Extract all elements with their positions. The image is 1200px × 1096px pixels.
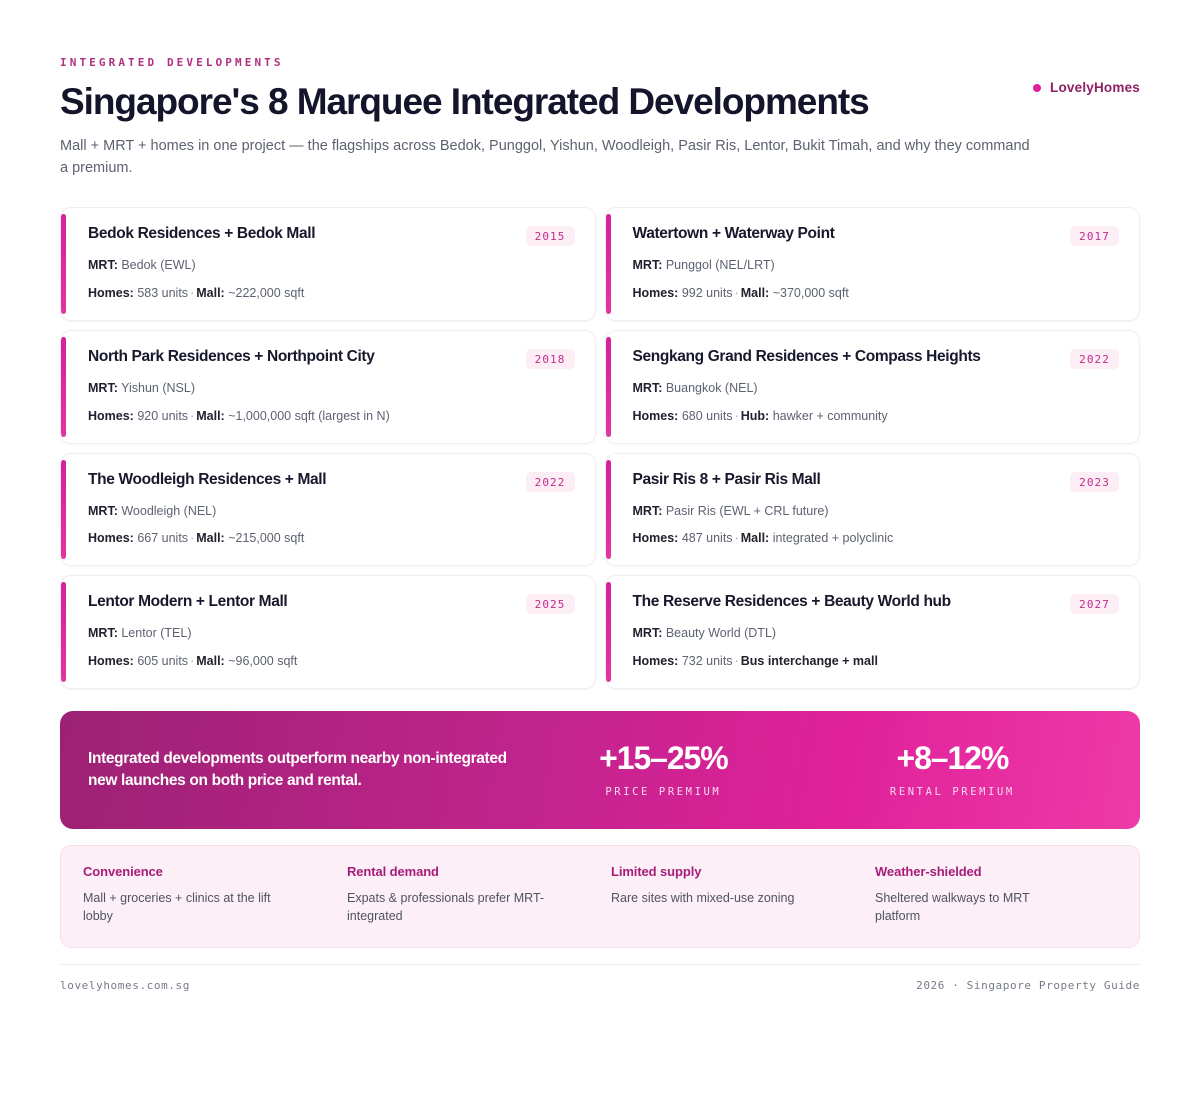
separator-dot: · (188, 531, 196, 545)
year-badge: 2027 (1070, 594, 1119, 614)
mrt-label: MRT: (88, 258, 118, 272)
benefit-title: Weather-shielded (875, 864, 1117, 879)
card-header: The Woodleigh Residences + Mall 2022 (88, 471, 575, 492)
separator-dot: · (733, 531, 741, 545)
infographic-page: LovelyHomes INTEGRATED DEVELOPMENTS Sing… (0, 56, 1200, 1096)
homes-label: Homes: (633, 654, 679, 668)
homes-value: 487 units (682, 531, 733, 545)
homes-value: 680 units (682, 409, 733, 423)
benefit-title: Rental demand (347, 864, 589, 879)
mrt-label: MRT: (88, 381, 118, 395)
mrt-label: MRT: (88, 504, 118, 518)
card-accent-bar (606, 582, 611, 682)
development-card[interactable]: The Reserve Residences + Beauty World hu… (605, 575, 1141, 689)
card-mrt-line: MRT: Woodleigh (NEL) (88, 503, 575, 520)
year-badge: 2015 (526, 226, 575, 246)
page-footer: lovelyhomes.com.sg 2026 · Singapore Prop… (60, 964, 1140, 992)
mall-label: Mall: (741, 286, 769, 300)
dot-icon (1033, 84, 1041, 92)
card-accent-bar (61, 214, 66, 314)
mall-value: ~222,000 sqft (228, 286, 304, 300)
benefit-description: Sheltered walkways to MRT platform (875, 889, 1075, 925)
card-header: North Park Residences + Northpoint City … (88, 348, 575, 369)
separator-dot: · (188, 286, 196, 300)
mrt-label: MRT: (633, 504, 663, 518)
mall-value: hawker + community (773, 409, 888, 423)
card-header: Pasir Ris 8 + Pasir Ris Mall 2023 (633, 471, 1120, 492)
mall-label: Mall: (196, 409, 224, 423)
separator-dot: · (188, 654, 196, 668)
mrt-label: MRT: (633, 626, 663, 640)
homes-label: Homes: (88, 531, 134, 545)
page-title: Singapore's 8 Marquee Integrated Develop… (60, 82, 1140, 122)
card-title: Lentor Modern + Lentor Mall (88, 593, 287, 612)
homes-label: Homes: (88, 409, 134, 423)
mrt-value: Bedok (EWL) (121, 258, 195, 272)
card-title: Sengkang Grand Residences + Compass Heig… (633, 348, 981, 367)
separator-dot: · (733, 409, 741, 423)
mrt-value: Yishun (NSL) (121, 381, 195, 395)
card-mrt-line: MRT: Bedok (EWL) (88, 257, 575, 274)
development-card[interactable]: Watertown + Waterway Point 2017 MRT: Pun… (605, 207, 1141, 321)
card-accent-bar (606, 460, 611, 560)
year-badge: 2023 (1070, 472, 1119, 492)
banner-statement: Integrated developments outperform nearb… (88, 748, 518, 792)
homes-label: Homes: (633, 286, 679, 300)
card-accent-bar (61, 582, 66, 682)
separator-dot: · (188, 409, 196, 423)
year-badge: 2025 (526, 594, 575, 614)
development-card[interactable]: Bedok Residences + Bedok Mall 2015 MRT: … (60, 207, 596, 321)
mall-value: integrated + polyclinic (773, 531, 894, 545)
footer-attribution: 2026 · Singapore Property Guide (916, 979, 1140, 992)
development-card[interactable]: Sengkang Grand Residences + Compass Heig… (605, 330, 1141, 444)
benefit-title: Convenience (83, 864, 325, 879)
benefit-description: Rare sites with mixed-use zoning (611, 889, 811, 907)
benefit-description: Mall + groceries + clinics at the lift l… (83, 889, 283, 925)
year-badge: 2017 (1070, 226, 1119, 246)
stat-price-premium: +15–25% PRICE PREMIUM (599, 742, 727, 798)
separator-dot: · (733, 654, 741, 668)
brand-name: LovelyHomes (1050, 80, 1140, 95)
homes-value: 605 units (137, 654, 188, 668)
card-header: Bedok Residences + Bedok Mall 2015 (88, 225, 575, 246)
mrt-label: MRT: (633, 258, 663, 272)
mall-value: ~1,000,000 sqft (largest in N) (228, 409, 390, 423)
homes-value: 583 units (137, 286, 188, 300)
stat-value: +8–12% (890, 742, 1015, 774)
year-badge: 2022 (1070, 349, 1119, 369)
mall-label: Mall: (741, 531, 769, 545)
mall-label: Mall: (196, 531, 224, 545)
mrt-value: Pasir Ris (EWL + CRL future) (666, 504, 829, 518)
banner-stats: +15–25% PRICE PREMIUM +8–12% RENTAL PREM… (518, 742, 1096, 798)
year-badge: 2022 (526, 472, 575, 492)
card-header: Lentor Modern + Lentor Mall 2025 (88, 593, 575, 614)
card-homes-line: Homes: 667 units·Mall: ~215,000 sqft (88, 530, 575, 547)
footer-website: lovelyhomes.com.sg (60, 979, 190, 992)
mrt-value: Buangkok (NEL) (666, 381, 758, 395)
premium-banner: Integrated developments outperform nearb… (60, 711, 1140, 829)
card-mrt-line: MRT: Lentor (TEL) (88, 625, 575, 642)
card-header: Watertown + Waterway Point 2017 (633, 225, 1120, 246)
benefit-item-weather-shielded: Weather-shielded Sheltered walkways to M… (875, 864, 1117, 925)
mall-label: Bus interchange + mall (741, 654, 878, 668)
mall-value: ~215,000 sqft (228, 531, 304, 545)
eyebrow-label: INTEGRATED DEVELOPMENTS (60, 56, 1140, 69)
page-subtitle: Mall + MRT + homes in one project — the … (60, 135, 1035, 179)
card-accent-bar (606, 214, 611, 314)
card-homes-line: Homes: 605 units·Mall: ~96,000 sqft (88, 653, 575, 670)
mall-value: ~96,000 sqft (228, 654, 297, 668)
card-title: The Woodleigh Residences + Mall (88, 471, 326, 490)
development-card[interactable]: North Park Residences + Northpoint City … (60, 330, 596, 444)
stat-label: RENTAL PREMIUM (890, 786, 1015, 798)
separator-dot: · (733, 286, 741, 300)
card-title: Watertown + Waterway Point (633, 225, 835, 244)
card-homes-line: Homes: 680 units·Hub: hawker + community (633, 408, 1120, 425)
benefit-item-rental-demand: Rental demand Expats & professionals pre… (347, 864, 589, 925)
developments-grid: Bedok Residences + Bedok Mall 2015 MRT: … (60, 207, 1140, 689)
brand-logo: LovelyHomes (1033, 80, 1140, 95)
card-title: Bedok Residences + Bedok Mall (88, 225, 315, 244)
card-mrt-line: MRT: Beauty World (DTL) (633, 625, 1120, 642)
card-mrt-line: MRT: Buangkok (NEL) (633, 380, 1120, 397)
mall-value: ~370,000 sqft (773, 286, 849, 300)
mall-label: Mall: (196, 654, 224, 668)
homes-label: Homes: (633, 409, 679, 423)
card-homes-line: Homes: 920 units·Mall: ~1,000,000 sqft (… (88, 408, 575, 425)
benefit-item-convenience: Convenience Mall + groceries + clinics a… (83, 864, 325, 925)
card-title: North Park Residences + Northpoint City (88, 348, 375, 367)
benefit-title: Limited supply (611, 864, 853, 879)
stat-label: PRICE PREMIUM (599, 786, 727, 798)
homes-value: 920 units (137, 409, 188, 423)
mrt-value: Woodleigh (NEL) (121, 504, 216, 518)
development-card[interactable]: Pasir Ris 8 + Pasir Ris Mall 2023 MRT: P… (605, 453, 1141, 567)
card-mrt-line: MRT: Pasir Ris (EWL + CRL future) (633, 503, 1120, 520)
homes-label: Homes: (88, 286, 134, 300)
mrt-label: MRT: (88, 626, 118, 640)
card-accent-bar (606, 337, 611, 437)
development-card[interactable]: The Woodleigh Residences + Mall 2022 MRT… (60, 453, 596, 567)
card-mrt-line: MRT: Punggol (NEL/LRT) (633, 257, 1120, 274)
stat-rental-premium: +8–12% RENTAL PREMIUM (890, 742, 1015, 798)
stat-value: +15–25% (599, 742, 727, 774)
card-homes-line: Homes: 992 units·Mall: ~370,000 sqft (633, 285, 1120, 302)
card-header: Sengkang Grand Residences + Compass Heig… (633, 348, 1120, 369)
homes-value: 667 units (137, 531, 188, 545)
card-accent-bar (61, 460, 66, 560)
homes-label: Homes: (88, 654, 134, 668)
benefit-item-limited-supply: Limited supply Rare sites with mixed-use… (611, 864, 853, 925)
homes-value: 992 units (682, 286, 733, 300)
mrt-value: Beauty World (DTL) (666, 626, 776, 640)
card-homes-line: Homes: 487 units·Mall: integrated + poly… (633, 530, 1120, 547)
benefits-panel: Convenience Mall + groceries + clinics a… (60, 845, 1140, 948)
mall-label: Mall: (196, 286, 224, 300)
mrt-value: Punggol (NEL/LRT) (666, 258, 775, 272)
development-card[interactable]: Lentor Modern + Lentor Mall 2025 MRT: Le… (60, 575, 596, 689)
year-badge: 2018 (526, 349, 575, 369)
benefit-description: Expats & professionals prefer MRT-integr… (347, 889, 547, 925)
homes-value: 732 units (682, 654, 733, 668)
card-homes-line: Homes: 732 units·Bus interchange + mall (633, 653, 1120, 670)
homes-label: Homes: (633, 531, 679, 545)
card-mrt-line: MRT: Yishun (NSL) (88, 380, 575, 397)
card-homes-line: Homes: 583 units·Mall: ~222,000 sqft (88, 285, 575, 302)
card-accent-bar (61, 337, 66, 437)
card-title: The Reserve Residences + Beauty World hu… (633, 593, 951, 612)
card-header: The Reserve Residences + Beauty World hu… (633, 593, 1120, 614)
card-title: Pasir Ris 8 + Pasir Ris Mall (633, 471, 821, 490)
mall-label: Hub: (741, 409, 769, 423)
mrt-label: MRT: (633, 381, 663, 395)
mrt-value: Lentor (TEL) (121, 626, 191, 640)
